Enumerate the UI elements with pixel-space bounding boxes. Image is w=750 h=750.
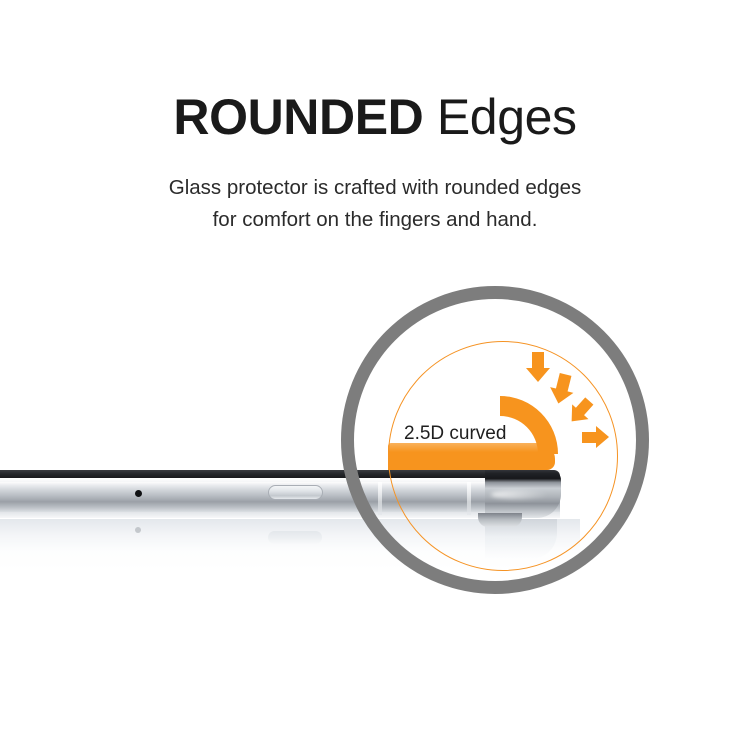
subtitle: Glass protector is crafted with rounded … xyxy=(0,172,750,236)
subtitle-line-2: for comfort on the fingers and hand. xyxy=(0,204,750,236)
power-button[interactable] xyxy=(268,485,323,500)
magnifier-outer-ring xyxy=(341,286,649,594)
phone-reflection-power-button xyxy=(268,531,322,544)
heading-block: ROUNDED Edges Glass protector is crafted… xyxy=(0,88,750,236)
microphone-hole-icon xyxy=(135,490,142,497)
page-title-strong: ROUNDED xyxy=(173,89,423,145)
page-title: ROUNDED Edges xyxy=(0,88,750,146)
subtitle-line-1: Glass protector is crafted with rounded … xyxy=(0,172,750,204)
phone-reflection-microphone xyxy=(135,527,141,533)
product-feature-banner: ROUNDED Edges Glass protector is crafted… xyxy=(0,0,750,750)
page-title-light: Edges xyxy=(423,89,576,145)
